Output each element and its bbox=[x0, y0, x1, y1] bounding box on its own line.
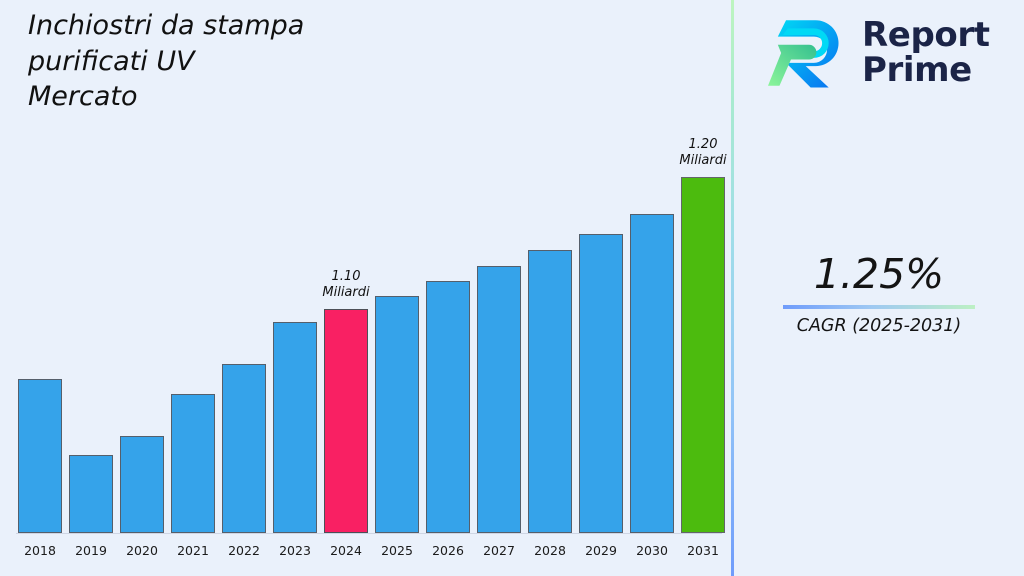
bar-2031 bbox=[681, 177, 725, 533]
brand-panel: Report Prime 1.25% CAGR (2025-2031) bbox=[734, 0, 1024, 576]
bar-2025 bbox=[375, 296, 419, 533]
chart-panel: Inchiostri da stampa purificati UV Merca… bbox=[0, 0, 733, 576]
bar-2023 bbox=[273, 322, 317, 533]
report-prime-logo-mark-icon bbox=[768, 12, 850, 94]
x-tick-2031: 2031 bbox=[681, 543, 725, 558]
bar-2027 bbox=[477, 266, 521, 533]
brand-name: Report Prime bbox=[862, 18, 990, 87]
bar-2029 bbox=[579, 234, 623, 533]
bar-2022 bbox=[222, 364, 266, 533]
bar-2021 bbox=[171, 394, 215, 533]
x-tick-2023: 2023 bbox=[273, 543, 317, 558]
x-tick-2021: 2021 bbox=[171, 543, 215, 558]
x-tick-2029: 2029 bbox=[579, 543, 623, 558]
x-tick-2020: 2020 bbox=[120, 543, 164, 558]
x-tick-2028: 2028 bbox=[528, 543, 572, 558]
bar-2026 bbox=[426, 281, 470, 533]
x-tick-2027: 2027 bbox=[477, 543, 521, 558]
cagr-value: 1.25% bbox=[734, 252, 1024, 297]
x-tick-2024: 2024 bbox=[324, 543, 368, 558]
cagr-divider-rule bbox=[783, 305, 975, 309]
bar-chart: 1.10 Miliardi1.20 Miliardi 2018201920202… bbox=[0, 0, 733, 576]
bar-2024 bbox=[324, 309, 368, 533]
x-tick-2022: 2022 bbox=[222, 543, 266, 558]
x-tick-2026: 2026 bbox=[426, 543, 470, 558]
bar-2019 bbox=[69, 455, 113, 533]
brand-logo: Report Prime bbox=[768, 12, 990, 94]
x-tick-2030: 2030 bbox=[630, 543, 674, 558]
x-tick-2019: 2019 bbox=[69, 543, 113, 558]
bar-2030 bbox=[630, 214, 674, 533]
cagr-caption: CAGR (2025-2031) bbox=[734, 316, 1024, 336]
bar-2020 bbox=[120, 436, 164, 533]
bar-2018 bbox=[18, 379, 62, 533]
infographic-canvas: Inchiostri da stampa purificati UV Merca… bbox=[0, 0, 1024, 576]
bar-value-label-2024: 1.10 Miliardi bbox=[298, 269, 394, 301]
cagr-block: 1.25% CAGR (2025-2031) bbox=[734, 252, 1024, 336]
x-tick-2025: 2025 bbox=[375, 543, 419, 558]
x-axis-line bbox=[16, 533, 722, 534]
x-tick-2018: 2018 bbox=[18, 543, 62, 558]
bar-2028 bbox=[528, 250, 572, 533]
